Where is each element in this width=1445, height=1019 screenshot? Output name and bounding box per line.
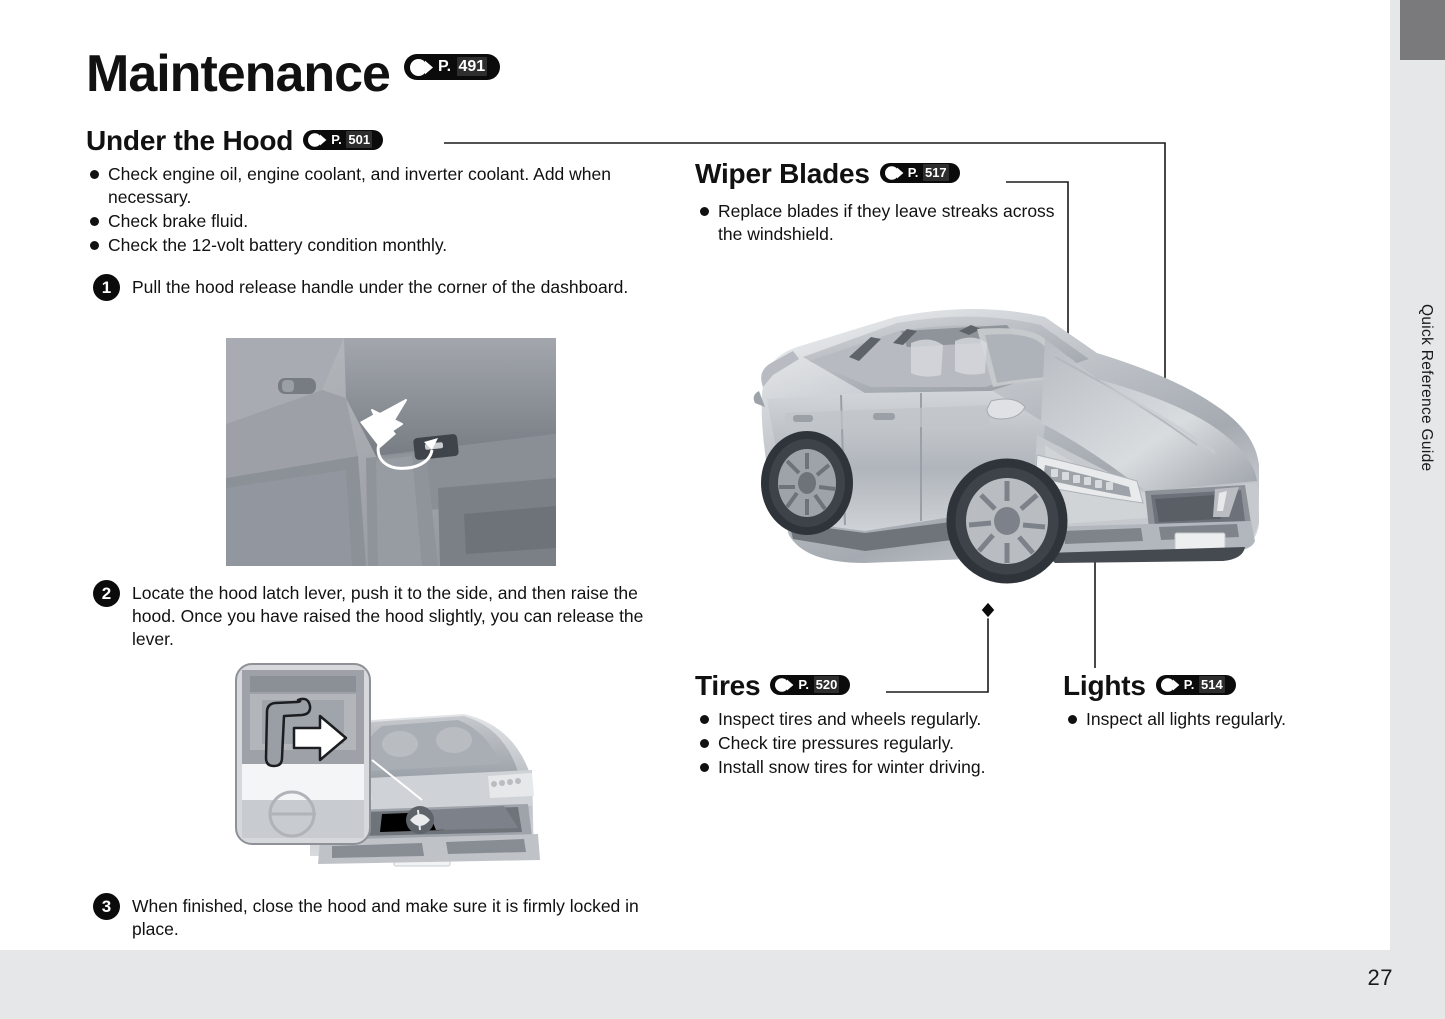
step-text: Locate the hood latch lever, push it to … bbox=[132, 580, 683, 651]
arrow-right-icon bbox=[410, 59, 435, 76]
bullet-icon bbox=[700, 715, 709, 724]
list-item: Check the 12-volt battery condition mont… bbox=[90, 234, 670, 257]
list-item-text: Check tire pressures regularly. bbox=[718, 732, 954, 755]
list-item-text: Inspect tires and wheels regularly. bbox=[718, 708, 981, 731]
list-item-text: Replace blades if they leave streaks acr… bbox=[718, 200, 1070, 246]
figure-hood-latch bbox=[232, 660, 572, 882]
page-ref-number: 491 bbox=[457, 57, 488, 76]
section-tab-label: Quick Reference Guide bbox=[1390, 60, 1435, 620]
step-text: When finished, close the hood and make s… bbox=[132, 893, 663, 941]
page-ref-number: 501 bbox=[346, 131, 372, 148]
section-heading-wiper-blades: Wiper Blades P. 517 bbox=[695, 160, 960, 188]
section-tab-marker bbox=[1400, 0, 1445, 60]
page-ref-lights[interactable]: P. 514 bbox=[1156, 675, 1236, 695]
page-number: 27 bbox=[1368, 965, 1393, 991]
bullet-icon bbox=[700, 207, 709, 216]
section-heading-text: Tires bbox=[695, 670, 760, 701]
list-item: Check brake fluid. bbox=[90, 210, 670, 233]
page-ref-number: 514 bbox=[1199, 676, 1225, 693]
list-item-text: Check engine oil, engine coolant, and in… bbox=[108, 163, 670, 209]
list-item: Check engine oil, engine coolant, and in… bbox=[90, 163, 670, 209]
bullet-icon bbox=[700, 739, 709, 748]
page-ref-prefix: P. bbox=[1184, 677, 1195, 692]
bullet-icon bbox=[700, 763, 709, 772]
arrow-right-icon bbox=[775, 678, 795, 692]
bullet-icon bbox=[90, 170, 99, 179]
section-heading-under-the-hood: Under the Hood P. 501 bbox=[86, 127, 383, 155]
page-title-text: Maintenance bbox=[86, 45, 390, 103]
list-item: Replace blades if they leave streaks acr… bbox=[700, 200, 1070, 246]
page-ref-tires[interactable]: P. 520 bbox=[770, 675, 850, 695]
section-heading-lights: Lights P. 514 bbox=[1063, 672, 1236, 700]
list-item: Inspect tires and wheels regularly. bbox=[700, 708, 1070, 731]
section-heading-tires: Tires P. 520 bbox=[695, 672, 850, 700]
page-ref-maintenance[interactable]: P. 491 bbox=[404, 54, 500, 80]
step-number-badge: 1 bbox=[93, 274, 120, 301]
list-item: Inspect all lights regularly. bbox=[1068, 708, 1398, 731]
step-2: 2 Locate the hood latch lever, push it t… bbox=[93, 580, 683, 651]
step-number-badge: 2 bbox=[93, 580, 120, 607]
page-ref-number: 520 bbox=[814, 676, 840, 693]
page-ref-prefix: P. bbox=[798, 677, 809, 692]
figure-hood-release-handle bbox=[226, 338, 556, 566]
page-ref-prefix: P. bbox=[438, 58, 451, 75]
under-the-hood-bullets: Check engine oil, engine coolant, and in… bbox=[90, 163, 670, 258]
step-text: Pull the hood release handle under the c… bbox=[132, 274, 628, 299]
section-tab[interactable]: Quick Reference Guide bbox=[1390, 0, 1445, 950]
step-number-badge: 3 bbox=[93, 893, 120, 920]
page-ref-wiper-blades[interactable]: P. 517 bbox=[880, 163, 960, 183]
wiper-blades-bullets: Replace blades if they leave streaks acr… bbox=[700, 200, 1070, 247]
bullet-icon bbox=[90, 217, 99, 226]
arrow-right-icon bbox=[308, 133, 328, 147]
page-ref-number: 517 bbox=[923, 164, 949, 181]
page-footer bbox=[0, 950, 1445, 1019]
page-ref-under-the-hood[interactable]: P. 501 bbox=[303, 130, 383, 150]
list-item: Check tire pressures regularly. bbox=[700, 732, 1070, 755]
figure-vehicle bbox=[745, 295, 1290, 630]
step-3: 3 When finished, close the hood and make… bbox=[93, 893, 663, 941]
list-item-text: Check the 12-volt battery condition mont… bbox=[108, 234, 447, 257]
step-1: 1 Pull the hood release handle under the… bbox=[93, 274, 653, 301]
bullet-icon bbox=[1068, 715, 1077, 724]
list-item-text: Inspect all lights regularly. bbox=[1086, 708, 1286, 731]
section-heading-text: Wiper Blades bbox=[695, 158, 870, 189]
manual-page: Maintenance P. 491 Under the Hood P. 501… bbox=[0, 0, 1445, 1019]
list-item-text: Check brake fluid. bbox=[108, 210, 248, 233]
arrow-right-icon bbox=[1161, 678, 1181, 692]
tires-bullets: Inspect tires and wheels regularly. Chec… bbox=[700, 708, 1070, 780]
bullet-icon bbox=[90, 241, 99, 250]
list-item: Install snow tires for winter driving. bbox=[700, 756, 1070, 779]
lights-bullets: Inspect all lights regularly. bbox=[1068, 708, 1398, 732]
page-ref-prefix: P. bbox=[908, 165, 919, 180]
page-ref-prefix: P. bbox=[331, 132, 342, 147]
section-heading-text: Lights bbox=[1063, 670, 1146, 701]
section-heading-text: Under the Hood bbox=[86, 125, 293, 156]
list-item-text: Install snow tires for winter driving. bbox=[718, 756, 985, 779]
arrow-right-icon bbox=[885, 166, 905, 180]
page-title: Maintenance P. 491 bbox=[86, 48, 500, 100]
